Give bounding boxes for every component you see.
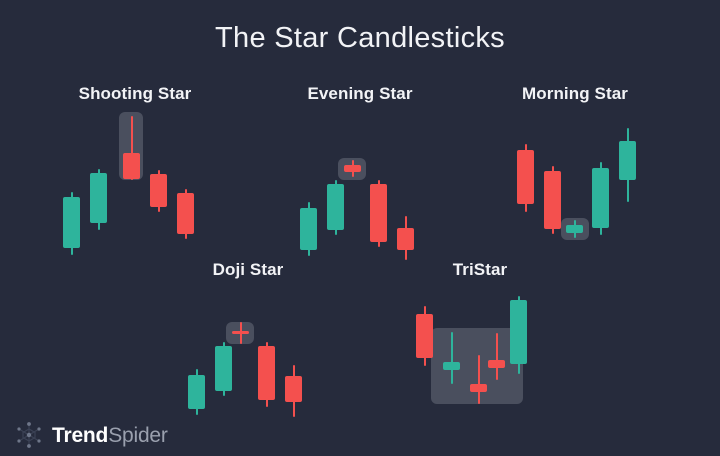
candle-bullish: [443, 284, 460, 424]
candlestick-chart-morning-star: [495, 108, 655, 278]
candle-body: [232, 331, 249, 334]
candle-body: [397, 228, 414, 250]
candle-body: [370, 184, 387, 242]
candlestick-chart-tristar: [400, 284, 560, 424]
candle-bearish: [258, 284, 275, 424]
candle-bullish: [510, 284, 527, 424]
candle-bearish: [470, 284, 487, 424]
pattern-title-shooting-star: Shooting Star: [50, 84, 220, 104]
candlestick-chart-shooting-star: [50, 108, 220, 278]
candle-body: [566, 225, 583, 233]
brand-name: TrendSpider: [52, 425, 168, 446]
candle-bearish: [123, 108, 140, 278]
candlestick-chart-evening-star: [280, 108, 440, 278]
candle-body: [285, 376, 302, 402]
candle-wick: [451, 332, 453, 384]
brand-name-light: Spider: [108, 424, 168, 447]
candle-bearish: [397, 108, 414, 278]
candle-body: [150, 174, 167, 207]
candle-bullish: [619, 108, 636, 278]
candle-body: [123, 153, 140, 179]
candle-body: [63, 197, 80, 248]
candle-bullish: [63, 108, 80, 278]
candle-bearish: [150, 108, 167, 278]
candle-bearish: [544, 108, 561, 278]
candle-bullish: [327, 108, 344, 278]
page-title: The Star Candlesticks: [0, 22, 720, 55]
brand-logo: TrendSpider: [14, 420, 168, 450]
candle-bearish: [232, 284, 249, 424]
brand-name-bold: Trend: [52, 424, 108, 447]
candle-bearish: [416, 284, 433, 424]
pattern-title-doji-star: Doji Star: [168, 260, 328, 280]
candle-body: [544, 171, 561, 229]
candle-bearish: [517, 108, 534, 278]
infographic-canvas: The Star Candlesticks Shooting StarEveni…: [0, 0, 720, 456]
candle-body: [488, 360, 505, 368]
candle-wick: [478, 355, 480, 404]
candle-bullish: [592, 108, 609, 278]
candle-bearish: [344, 108, 361, 278]
candle-bullish: [215, 284, 232, 424]
candle-bullish: [90, 108, 107, 278]
candle-body: [416, 314, 433, 358]
candle-body: [300, 208, 317, 250]
candle-body: [470, 384, 487, 392]
candle-body: [517, 150, 534, 204]
pattern-title-tristar: TriStar: [400, 260, 560, 280]
spider-web-icon: [14, 420, 44, 450]
candle-body: [327, 184, 344, 230]
candlestick-chart-doji-star: [168, 284, 328, 424]
candle-body: [188, 375, 205, 409]
candle-bearish: [488, 284, 505, 424]
candle-body: [592, 168, 609, 228]
candle-bearish: [370, 108, 387, 278]
candle-body: [177, 193, 194, 234]
candle-body: [344, 165, 361, 172]
candle-bearish: [177, 108, 194, 278]
candle-body: [215, 346, 232, 391]
candle-body: [443, 362, 460, 370]
candle-body: [90, 173, 107, 223]
candle-wick: [496, 333, 498, 380]
candle-body: [258, 346, 275, 400]
candle-bullish: [300, 108, 317, 278]
candle-bearish: [285, 284, 302, 424]
candle-body: [510, 300, 527, 364]
pattern-title-morning-star: Morning Star: [495, 84, 655, 104]
candle-bullish: [566, 108, 583, 278]
candle-bullish: [188, 284, 205, 424]
pattern-title-evening-star: Evening Star: [280, 84, 440, 104]
candle-body: [619, 141, 636, 180]
